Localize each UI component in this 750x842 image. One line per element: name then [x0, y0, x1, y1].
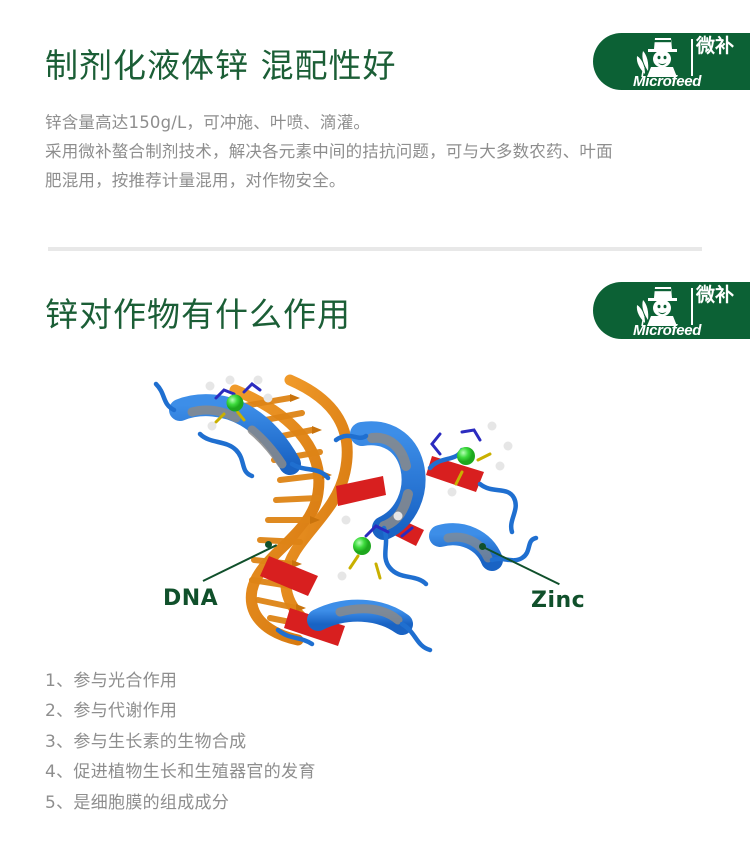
zinc-ion [457, 447, 475, 465]
dna-callout-label: DNA [163, 586, 218, 611]
logo-wordmark: Microfeed [633, 322, 745, 339]
list-item: 5、是细胞膜的组成成分 [45, 788, 565, 818]
body-line-3: 肥混用，按推荐计量混用，对作物安全。 [45, 166, 705, 195]
logo-divider [691, 39, 693, 76]
zinc-callout-label: Zinc [531, 588, 585, 613]
list-item: 3、参与生长素的生物合成 [45, 727, 565, 757]
zinc-ion [353, 537, 371, 555]
logo-chinese-name: 微补 [696, 36, 738, 56]
list-item: 4、促进植物生长和生殖器官的发育 [45, 757, 565, 787]
zinc-finger-dna-complex-illustration [140, 368, 610, 658]
section-one-title: 制剂化液体锌 混配性好 [45, 46, 397, 86]
product-detail-page: 制剂化液体锌 混配性好 [0, 0, 750, 842]
zinc-ion [227, 395, 244, 412]
brand-logo-badge-top: 微补 Microfeed [593, 33, 750, 90]
logo-chinese-name: 微补 [696, 285, 738, 305]
brand-logo-badge-second: 微补 Microfeed [593, 282, 750, 339]
list-item: 1、参与光合作用 [45, 666, 565, 696]
section-divider [48, 247, 702, 251]
zinc-benefits-list: 1、参与光合作用 2、参与代谢作用 3、参与生长素的生物合成 4、促进植物生长和… [45, 666, 565, 818]
gentleman-in-top-hat-icon [631, 286, 687, 326]
body-line-1: 锌含量高达150g/L，可冲施、叶喷、滴灌。 [45, 108, 705, 137]
brand-logo-inner: 微补 Microfeed [631, 36, 750, 88]
list-item: 2、参与代谢作用 [45, 696, 565, 726]
logo-wordmark: Microfeed [633, 73, 745, 90]
body-line-2: 采用微补螯合制剂技术，解决各元素中间的拮抗问题，可与大多数农药、叶面 [45, 137, 705, 166]
logo-divider [691, 288, 693, 325]
gentleman-in-top-hat-icon [631, 37, 687, 77]
brand-logo-inner: 微补 Microfeed [631, 285, 750, 337]
section-two-title: 锌对作物有什么作用 [45, 295, 351, 335]
section-one-body: 锌含量高达150g/L，可冲施、叶喷、滴灌。 采用微补螯合制剂技术，解决各元素中… [45, 108, 705, 195]
